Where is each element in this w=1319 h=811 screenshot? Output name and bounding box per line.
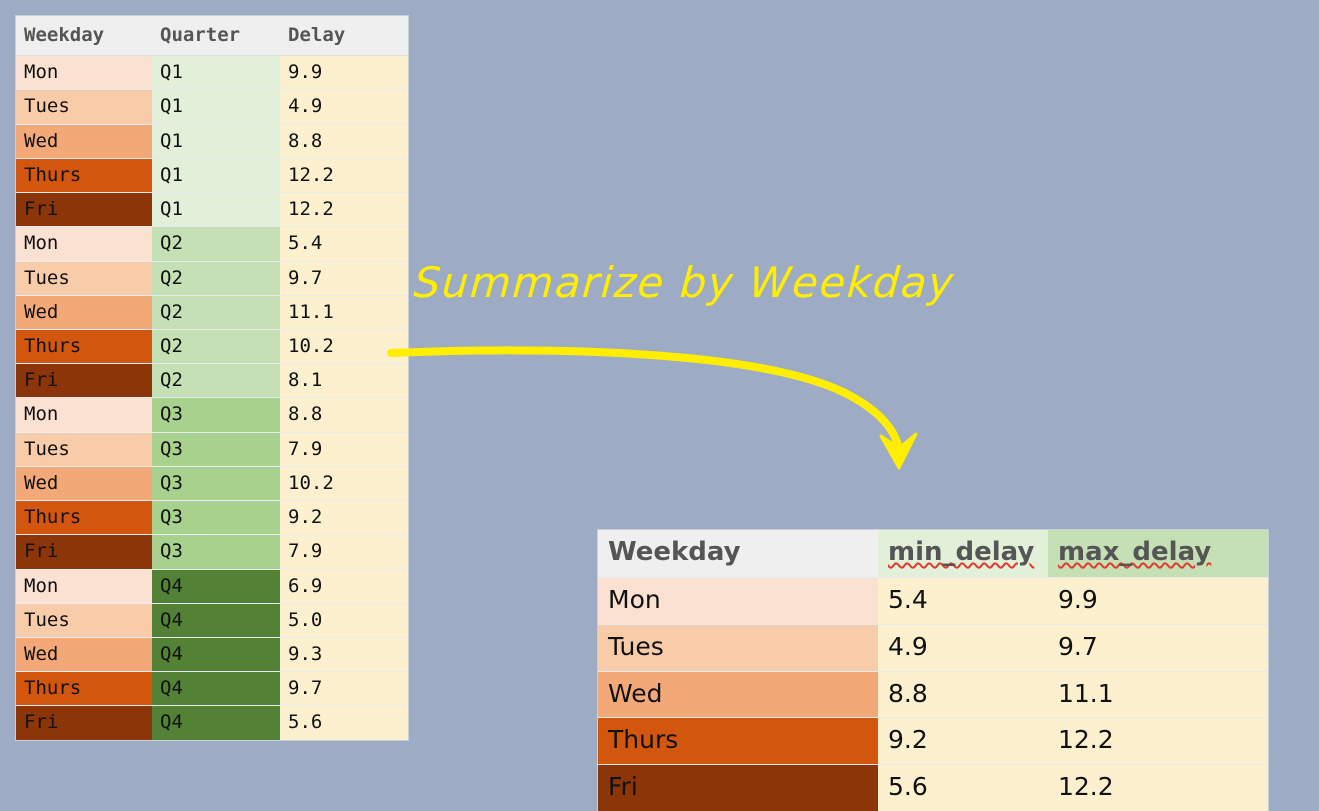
cell-delay: 7.9 <box>280 535 408 569</box>
summary-cell-max-delay: 9.7 <box>1048 624 1268 671</box>
cell-weekday: Mon <box>16 398 152 432</box>
summary-cell-min-delay: 4.9 <box>878 624 1048 671</box>
column-header-delay: Delay <box>280 16 408 56</box>
table-row: ThursQ112.2 <box>16 158 408 192</box>
table-row: Wed8.811.1 <box>598 671 1268 718</box>
table-row: ThursQ210.2 <box>16 329 408 363</box>
cell-delay: 12.2 <box>280 158 408 192</box>
cell-quarter: Q1 <box>152 90 280 124</box>
table-row: FriQ112.2 <box>16 193 408 227</box>
cell-weekday: Fri <box>16 193 152 227</box>
cell-delay: 5.4 <box>280 227 408 261</box>
cell-delay: 5.0 <box>280 603 408 637</box>
table-row: Fri5.612.2 <box>598 765 1268 811</box>
cell-quarter: Q4 <box>152 706 280 740</box>
detail-table-body: MonQ19.9TuesQ14.9WedQ18.8ThursQ112.2FriQ… <box>16 56 408 740</box>
table-row: WedQ310.2 <box>16 466 408 500</box>
cell-weekday: Mon <box>16 569 152 603</box>
cell-quarter: Q4 <box>152 637 280 671</box>
summary-column-header-min-delay: min_delay <box>878 530 1048 578</box>
cell-delay: 9.7 <box>280 672 408 706</box>
cell-weekday: Thurs <box>16 158 152 192</box>
table-row: WedQ49.3 <box>16 637 408 671</box>
table-row: TuesQ45.0 <box>16 603 408 637</box>
summary-cell-min-delay: 5.4 <box>878 578 1048 625</box>
cell-quarter: Q2 <box>152 295 280 329</box>
table-row: TuesQ37.9 <box>16 432 408 466</box>
summary-cell-min-delay: 5.6 <box>878 765 1048 811</box>
cell-weekday: Wed <box>16 637 152 671</box>
cell-weekday: Fri <box>16 535 152 569</box>
table-row: FriQ37.9 <box>16 535 408 569</box>
table-row: ThursQ39.2 <box>16 501 408 535</box>
cell-delay: 9.9 <box>280 56 408 90</box>
cell-delay: 9.7 <box>280 261 408 295</box>
table-row: TuesQ29.7 <box>16 261 408 295</box>
cell-delay: 12.2 <box>280 193 408 227</box>
cell-quarter: Q1 <box>152 158 280 192</box>
cell-weekday: Tues <box>16 432 152 466</box>
cell-quarter: Q2 <box>152 329 280 363</box>
table-row: ThursQ49.7 <box>16 672 408 706</box>
cell-quarter: Q3 <box>152 466 280 500</box>
table-row: WedQ18.8 <box>16 124 408 158</box>
table-row: MonQ25.4 <box>16 227 408 261</box>
cell-weekday: Wed <box>16 124 152 158</box>
cell-weekday: Tues <box>16 261 152 295</box>
table-header-row: Weekday Quarter Delay <box>16 16 408 56</box>
table-row: MonQ38.8 <box>16 398 408 432</box>
cell-quarter: Q1 <box>152 193 280 227</box>
cell-quarter: Q2 <box>152 364 280 398</box>
cell-quarter: Q4 <box>152 569 280 603</box>
cell-delay: 10.2 <box>280 329 408 363</box>
cell-weekday: Thurs <box>16 329 152 363</box>
annotation-label: Summarize by Weekday <box>412 258 956 307</box>
cell-delay: 5.6 <box>280 706 408 740</box>
cell-delay: 7.9 <box>280 432 408 466</box>
cell-weekday: Wed <box>16 466 152 500</box>
cell-delay: 9.2 <box>280 501 408 535</box>
cell-quarter: Q3 <box>152 501 280 535</box>
table-row: FriQ28.1 <box>16 364 408 398</box>
cell-delay: 9.3 <box>280 637 408 671</box>
summary-table-body: Mon5.49.9Tues4.99.7Wed8.811.1Thurs9.212.… <box>598 578 1268 811</box>
column-header-weekday: Weekday <box>16 16 152 56</box>
summary-cell-max-delay: 12.2 <box>1048 765 1268 811</box>
delay-summary-table: Weekday min_delay max_delay Mon5.49.9Tue… <box>598 530 1268 811</box>
cell-delay: 8.8 <box>280 124 408 158</box>
cell-weekday: Mon <box>16 227 152 261</box>
summary-column-header-weekday: Weekday <box>598 530 878 578</box>
cell-quarter: Q3 <box>152 535 280 569</box>
table-row: Tues4.99.7 <box>598 624 1268 671</box>
cell-weekday: Fri <box>16 706 152 740</box>
cell-delay: 11.1 <box>280 295 408 329</box>
cell-weekday: Mon <box>16 56 152 90</box>
summary-cell-min-delay: 8.8 <box>878 671 1048 718</box>
cell-quarter: Q3 <box>152 398 280 432</box>
delay-detail-table: Weekday Quarter Delay MonQ19.9TuesQ14.9W… <box>16 16 408 740</box>
summary-cell-weekday: Tues <box>598 624 878 671</box>
cell-quarter: Q1 <box>152 124 280 158</box>
column-header-quarter: Quarter <box>152 16 280 56</box>
table-row: MonQ19.9 <box>16 56 408 90</box>
summary-cell-weekday: Wed <box>598 671 878 718</box>
cell-delay: 10.2 <box>280 466 408 500</box>
cell-delay: 4.9 <box>280 90 408 124</box>
cell-weekday: Thurs <box>16 501 152 535</box>
cell-weekday: Wed <box>16 295 152 329</box>
cell-quarter: Q4 <box>152 672 280 706</box>
table-row: FriQ45.6 <box>16 706 408 740</box>
table-row: WedQ211.1 <box>16 295 408 329</box>
cell-quarter: Q3 <box>152 432 280 466</box>
cell-delay: 8.1 <box>280 364 408 398</box>
cell-quarter: Q4 <box>152 603 280 637</box>
arrowhead-icon <box>881 434 916 468</box>
cell-weekday: Fri <box>16 364 152 398</box>
summary-cell-max-delay: 11.1 <box>1048 671 1268 718</box>
cell-quarter: Q1 <box>152 56 280 90</box>
summary-cell-weekday: Fri <box>598 765 878 811</box>
cell-delay: 6.9 <box>280 569 408 603</box>
cell-weekday: Tues <box>16 603 152 637</box>
table-row: Mon5.49.9 <box>598 578 1268 625</box>
summary-header-row: Weekday min_delay max_delay <box>598 530 1268 578</box>
table-row: TuesQ14.9 <box>16 90 408 124</box>
cell-quarter: Q2 <box>152 227 280 261</box>
summary-cell-min-delay: 9.2 <box>878 718 1048 765</box>
diagram-canvas: Weekday Quarter Delay MonQ19.9TuesQ14.9W… <box>0 0 1319 810</box>
summary-cell-weekday: Mon <box>598 578 878 625</box>
curved-arrow-line <box>391 350 899 452</box>
table-row: Thurs9.212.2 <box>598 718 1268 765</box>
cell-weekday: Tues <box>16 90 152 124</box>
cell-weekday: Thurs <box>16 672 152 706</box>
cell-quarter: Q2 <box>152 261 280 295</box>
summary-cell-weekday: Thurs <box>598 718 878 765</box>
table-row: MonQ46.9 <box>16 569 408 603</box>
summary-cell-max-delay: 9.9 <box>1048 578 1268 625</box>
summary-cell-max-delay: 12.2 <box>1048 718 1268 765</box>
summary-column-header-max-delay: max_delay <box>1048 530 1268 578</box>
cell-delay: 8.8 <box>280 398 408 432</box>
